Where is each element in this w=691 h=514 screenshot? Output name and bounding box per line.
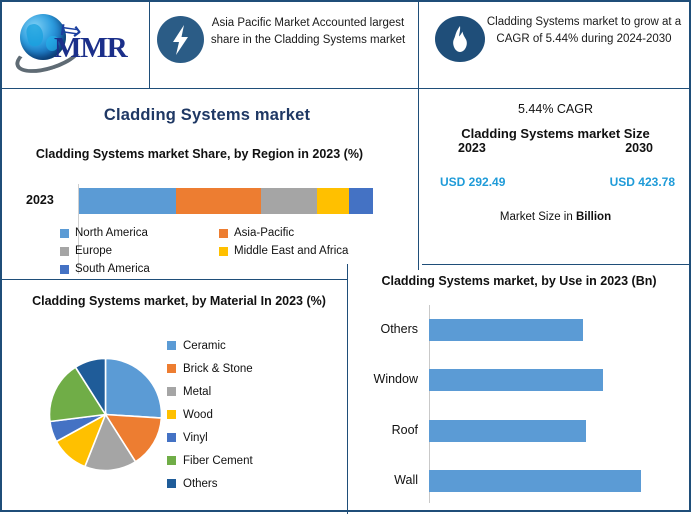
pie-slice	[106, 359, 162, 419]
legend-swatch	[167, 479, 176, 488]
mid-divider-right	[422, 264, 689, 265]
market-size-year-start: 2023	[458, 141, 486, 155]
legend-swatch	[167, 433, 176, 442]
market-size-value-start: USD 292.49	[440, 175, 505, 189]
header-divider-1	[149, 2, 150, 88]
legend-label: Brick & Stone	[183, 363, 253, 375]
region-chart-title: Cladding Systems market Share, by Region…	[22, 145, 377, 164]
region-segment	[79, 188, 176, 214]
legend-label-asia-pacific: Asia-Pacific	[234, 227, 294, 239]
legend-item-others: Others	[167, 472, 253, 495]
use-bar	[429, 420, 586, 442]
region-chart-legend: North America Asia-Pacific Europe Middle…	[60, 224, 378, 278]
material-chart-title: Cladding Systems market, by Material In …	[14, 292, 344, 311]
legend-item-north-america: North America	[60, 227, 219, 239]
use-bar	[429, 369, 603, 391]
legend-label: Metal	[183, 386, 211, 398]
legend-swatch-south-america	[60, 265, 69, 274]
region-segment	[317, 188, 349, 214]
use-bar	[429, 319, 583, 341]
legend-label-europe: Europe	[75, 245, 112, 257]
legend-swatch	[167, 410, 176, 419]
legend-label: Vinyl	[183, 432, 208, 444]
legend-item-fiber-cement: Fiber Cement	[167, 449, 253, 472]
region-segment	[176, 188, 261, 214]
legend-swatch	[167, 456, 176, 465]
legend-label: Ceramic	[183, 340, 226, 352]
header-bar: ⤇ MMR Asia Pacific Market Accounted larg…	[2, 2, 689, 88]
legend-label: Others	[183, 478, 218, 490]
market-size-unit-note: Market Size in Billion	[422, 211, 689, 223]
material-pie-chart	[48, 357, 163, 472]
legend-label: Fiber Cement	[183, 455, 253, 467]
header-panel-2-text: Cladding Systems market to grow at a CAG…	[484, 14, 684, 48]
lightning-bolt-icon	[157, 16, 204, 63]
legend-item-wood: Wood	[167, 403, 253, 426]
market-size-value-end: USD 423.78	[610, 175, 675, 189]
use-bar-label: Wall	[323, 473, 418, 487]
market-size-unit-prefix: Market Size in	[500, 211, 576, 223]
mmr-logo: ⤇ MMR	[14, 10, 144, 76]
market-size-left-divider	[418, 88, 419, 270]
region-segment	[261, 188, 317, 214]
market-size-unit-value: Billion	[576, 211, 611, 223]
market-size-year-end: 2030	[625, 141, 653, 155]
header-divider-2	[418, 2, 419, 88]
legend-label-middle-east-africa: Middle East and Africa	[234, 245, 348, 257]
legend-swatch	[167, 387, 176, 396]
legend-swatch-middle-east-africa	[219, 247, 228, 256]
flame-icon	[435, 16, 485, 62]
legend-label-north-america: North America	[75, 227, 148, 239]
market-size-panel: 5.44% CAGR Cladding Systems market Size …	[422, 102, 689, 223]
legend-swatch-asia-pacific	[219, 229, 228, 238]
use-chart-title: Cladding Systems market, by Use in 2023 …	[354, 272, 684, 291]
use-bar	[429, 470, 641, 492]
legend-item-south-america: South America	[60, 263, 220, 275]
material-chart-legend: CeramicBrick & StoneMetalWoodVinylFiber …	[167, 334, 253, 495]
infographic-page: ⤇ MMR Asia Pacific Market Accounted larg…	[0, 0, 691, 512]
legend-item-vinyl: Vinyl	[167, 426, 253, 449]
brand-name: MMR	[54, 32, 127, 65]
cagr-label: 5.44% CAGR	[422, 102, 689, 116]
legend-label: Wood	[183, 409, 213, 421]
page-title: Cladding Systems market	[2, 106, 412, 125]
use-bar-label: Roof	[323, 423, 418, 437]
legend-label-south-america: South America	[75, 263, 150, 275]
use-bar-label: Others	[323, 322, 418, 336]
legend-item-middle-east-africa: Middle East and Africa	[219, 245, 378, 257]
legend-item-ceramic: Ceramic	[167, 334, 253, 357]
header-panel-1-text: Asia Pacific Market Accounted largest sh…	[208, 15, 408, 49]
mid-divider-left	[2, 279, 347, 280]
legend-swatch	[167, 364, 176, 373]
legend-item-metal: Metal	[167, 380, 253, 403]
pie-svg	[48, 357, 163, 472]
legend-swatch-north-america	[60, 229, 69, 238]
region-segment	[349, 188, 373, 214]
region-stacked-bar	[79, 188, 373, 214]
legend-swatch	[167, 341, 176, 350]
legend-item-asia-pacific: Asia-Pacific	[219, 227, 378, 239]
legend-item-brick-stone: Brick & Stone	[167, 357, 253, 380]
legend-swatch-europe	[60, 247, 69, 256]
use-bar-label: Window	[323, 372, 418, 386]
region-chart-category-label: 2023	[26, 193, 54, 207]
legend-item-europe: Europe	[60, 245, 219, 257]
header-bottom-divider	[2, 88, 689, 89]
